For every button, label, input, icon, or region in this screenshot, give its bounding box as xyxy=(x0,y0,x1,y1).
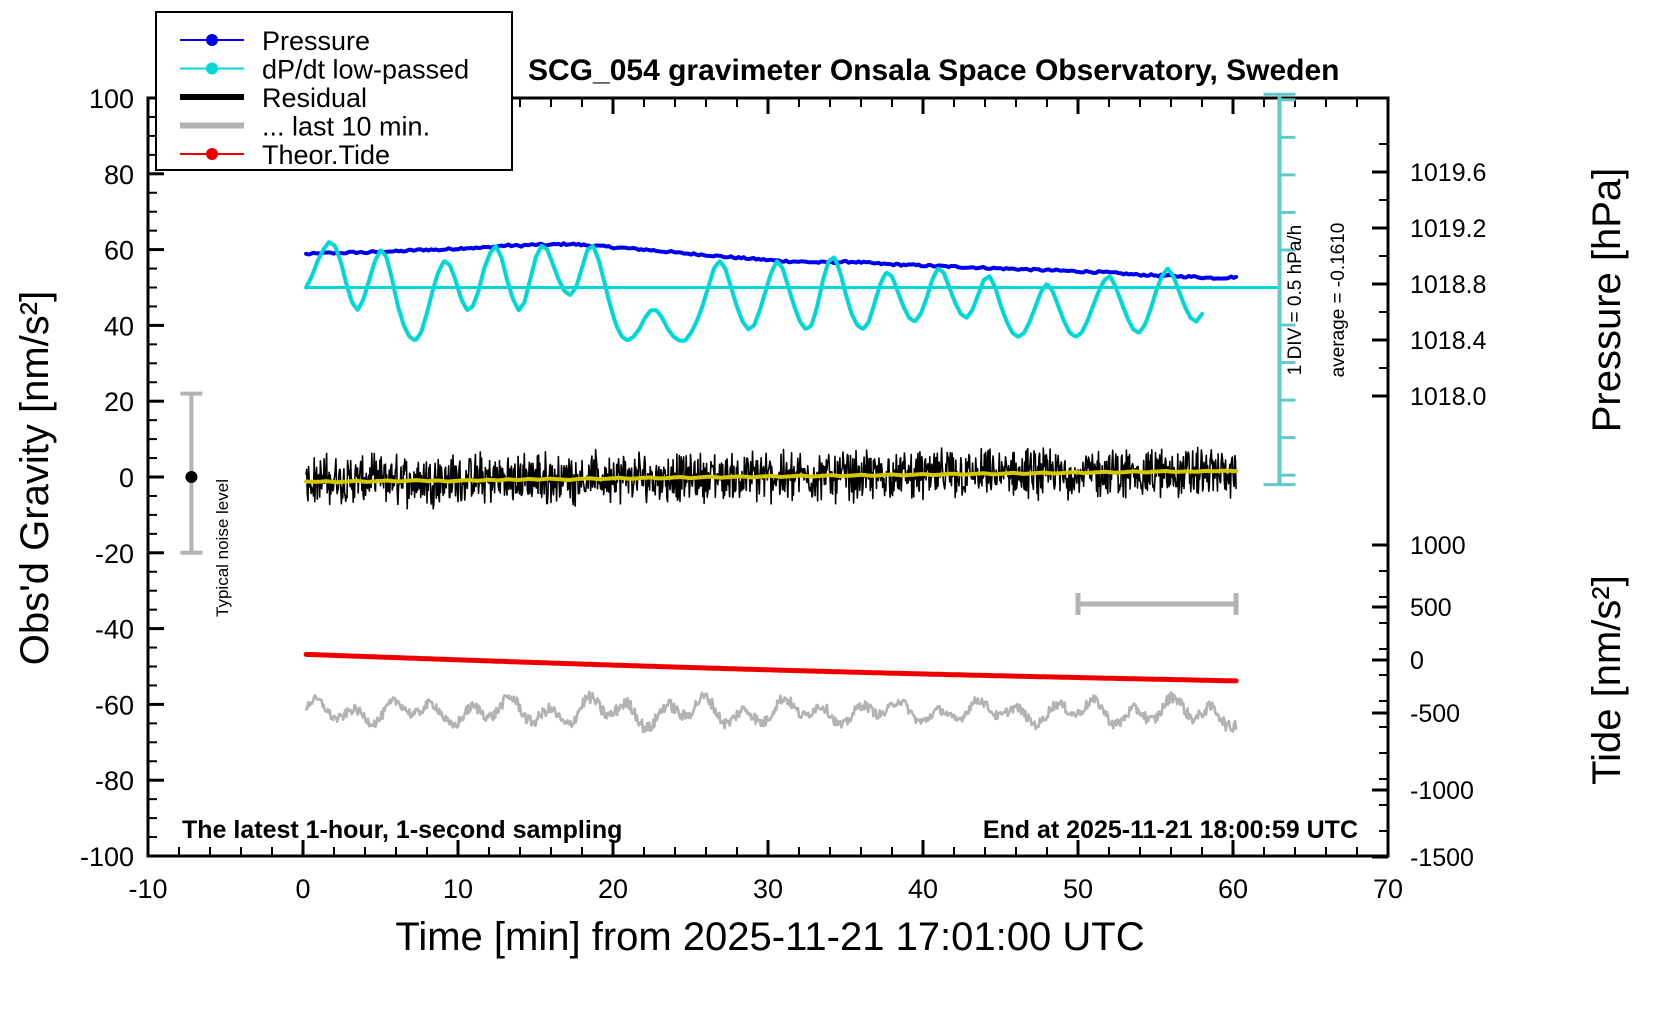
legend-marker-4 xyxy=(206,148,218,160)
bottom-right-note: End at 2025-11-21 18:00:59 UTC xyxy=(983,816,1358,844)
noise-center-dot xyxy=(185,471,197,483)
pressure-tick-label: 1019.6 xyxy=(1410,159,1486,187)
legend[interactable]: PressuredP/dt low-passedResidual... last… xyxy=(156,12,512,170)
gravimeter-plot: -10010203040506070 -100-80-60-40-2002040… xyxy=(0,0,1660,1020)
tide-tick-label: -1500 xyxy=(1410,844,1474,872)
legend-label-0[interactable]: Pressure xyxy=(262,26,370,56)
page-title: SCG_054 gravimeter Onsala Space Observat… xyxy=(528,54,1340,87)
y-axis-title-right-tide: Tide [nm/s²] xyxy=(1585,575,1629,785)
x-tick-label: 50 xyxy=(1063,874,1093,904)
legend-marker-0 xyxy=(206,34,218,46)
pressure-tick-label: 1018.8 xyxy=(1410,271,1486,299)
y-tick-label: -100 xyxy=(80,842,134,872)
y-tick-label: 100 xyxy=(89,84,134,114)
noise-level-note: Typical noise level xyxy=(213,479,232,617)
legend-label-3[interactable]: ... last 10 min. xyxy=(262,112,430,142)
x-tick-label: 30 xyxy=(753,874,783,904)
tide-tick-label: 0 xyxy=(1410,647,1424,675)
y-tick-label: -20 xyxy=(95,539,134,569)
legend-label-2[interactable]: Residual xyxy=(262,83,367,113)
x-tick-label: 0 xyxy=(295,874,310,904)
x-tick-label: -10 xyxy=(128,874,167,904)
y-tick-label: 40 xyxy=(104,311,134,341)
bottom-left-note: The latest 1-hour, 1-second sampling xyxy=(182,816,622,844)
legend-marker-1 xyxy=(206,63,218,75)
pressure-tick-label: 1019.2 xyxy=(1410,215,1486,243)
tide-tick-label: -500 xyxy=(1410,700,1460,728)
x-tick-label: 40 xyxy=(908,874,938,904)
y-axis-title-left: Obs'd Gravity [nm/s²] xyxy=(13,291,57,665)
tide-tick-label: -1000 xyxy=(1410,777,1474,805)
tide-tick-label: 1000 xyxy=(1410,532,1466,560)
y-tick-label: -40 xyxy=(95,615,134,645)
pressure-tick-label: 1018.0 xyxy=(1410,383,1486,411)
x-tick-label: 20 xyxy=(598,874,628,904)
average-note: average = -0.1610 xyxy=(1328,223,1349,378)
legend-label-4[interactable]: Theor.Tide xyxy=(262,140,390,170)
x-tick-label: 70 xyxy=(1373,874,1403,904)
pressure-tick-label: 1018.4 xyxy=(1410,327,1487,355)
tide-tick-label: 500 xyxy=(1410,594,1452,622)
x-axis-title: Time [min] from 2025-11-21 17:01:00 UTC xyxy=(395,915,1144,959)
x-tick-label: 10 xyxy=(443,874,473,904)
y-tick-label: 80 xyxy=(104,160,134,190)
x-tick-label: 60 xyxy=(1218,874,1248,904)
y-axis-title-right-pressure: Pressure [hPa] xyxy=(1585,168,1629,433)
y-tick-label: 20 xyxy=(104,387,134,417)
y-tick-label: -80 xyxy=(95,766,134,796)
div-scale-note: 1 DIV = 0.5 hPa/h xyxy=(1285,225,1306,376)
y-tick-label: -60 xyxy=(95,690,134,720)
y-tick-label: 60 xyxy=(104,236,134,266)
y-tick-label: 0 xyxy=(119,463,134,493)
legend-label-1[interactable]: dP/dt low-passed xyxy=(262,55,469,85)
